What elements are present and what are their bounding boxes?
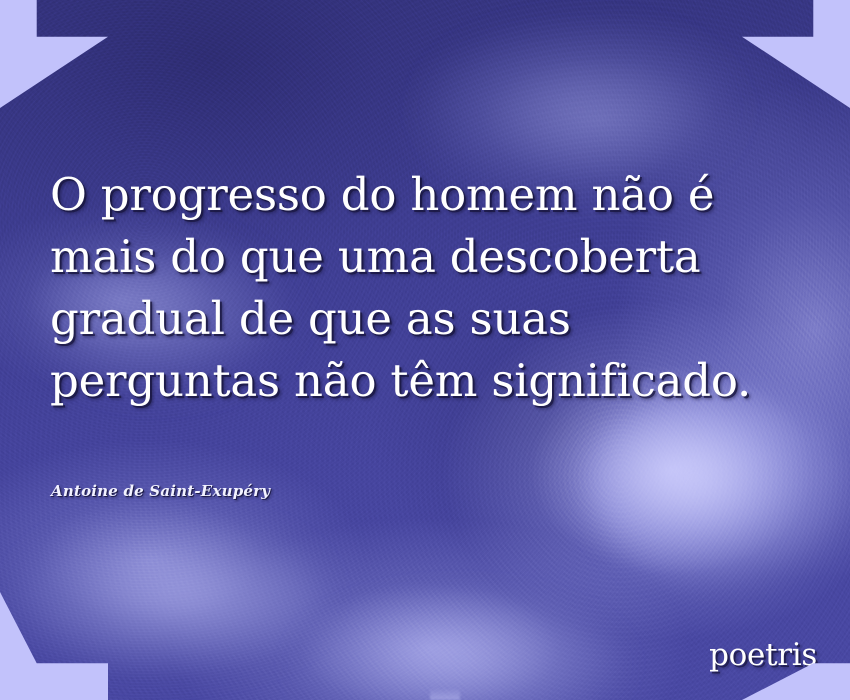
content-layer: O progresso do homem não é mais do que u…	[0, 0, 850, 700]
quote-card: O progresso do homem não é mais do que u…	[0, 0, 850, 700]
quote-text: O progresso do homem não é mais do que u…	[50, 164, 820, 412]
brand-watermark: poetris	[709, 637, 817, 673]
quote-author: Antoine de Saint-Exupéry	[51, 482, 270, 500]
